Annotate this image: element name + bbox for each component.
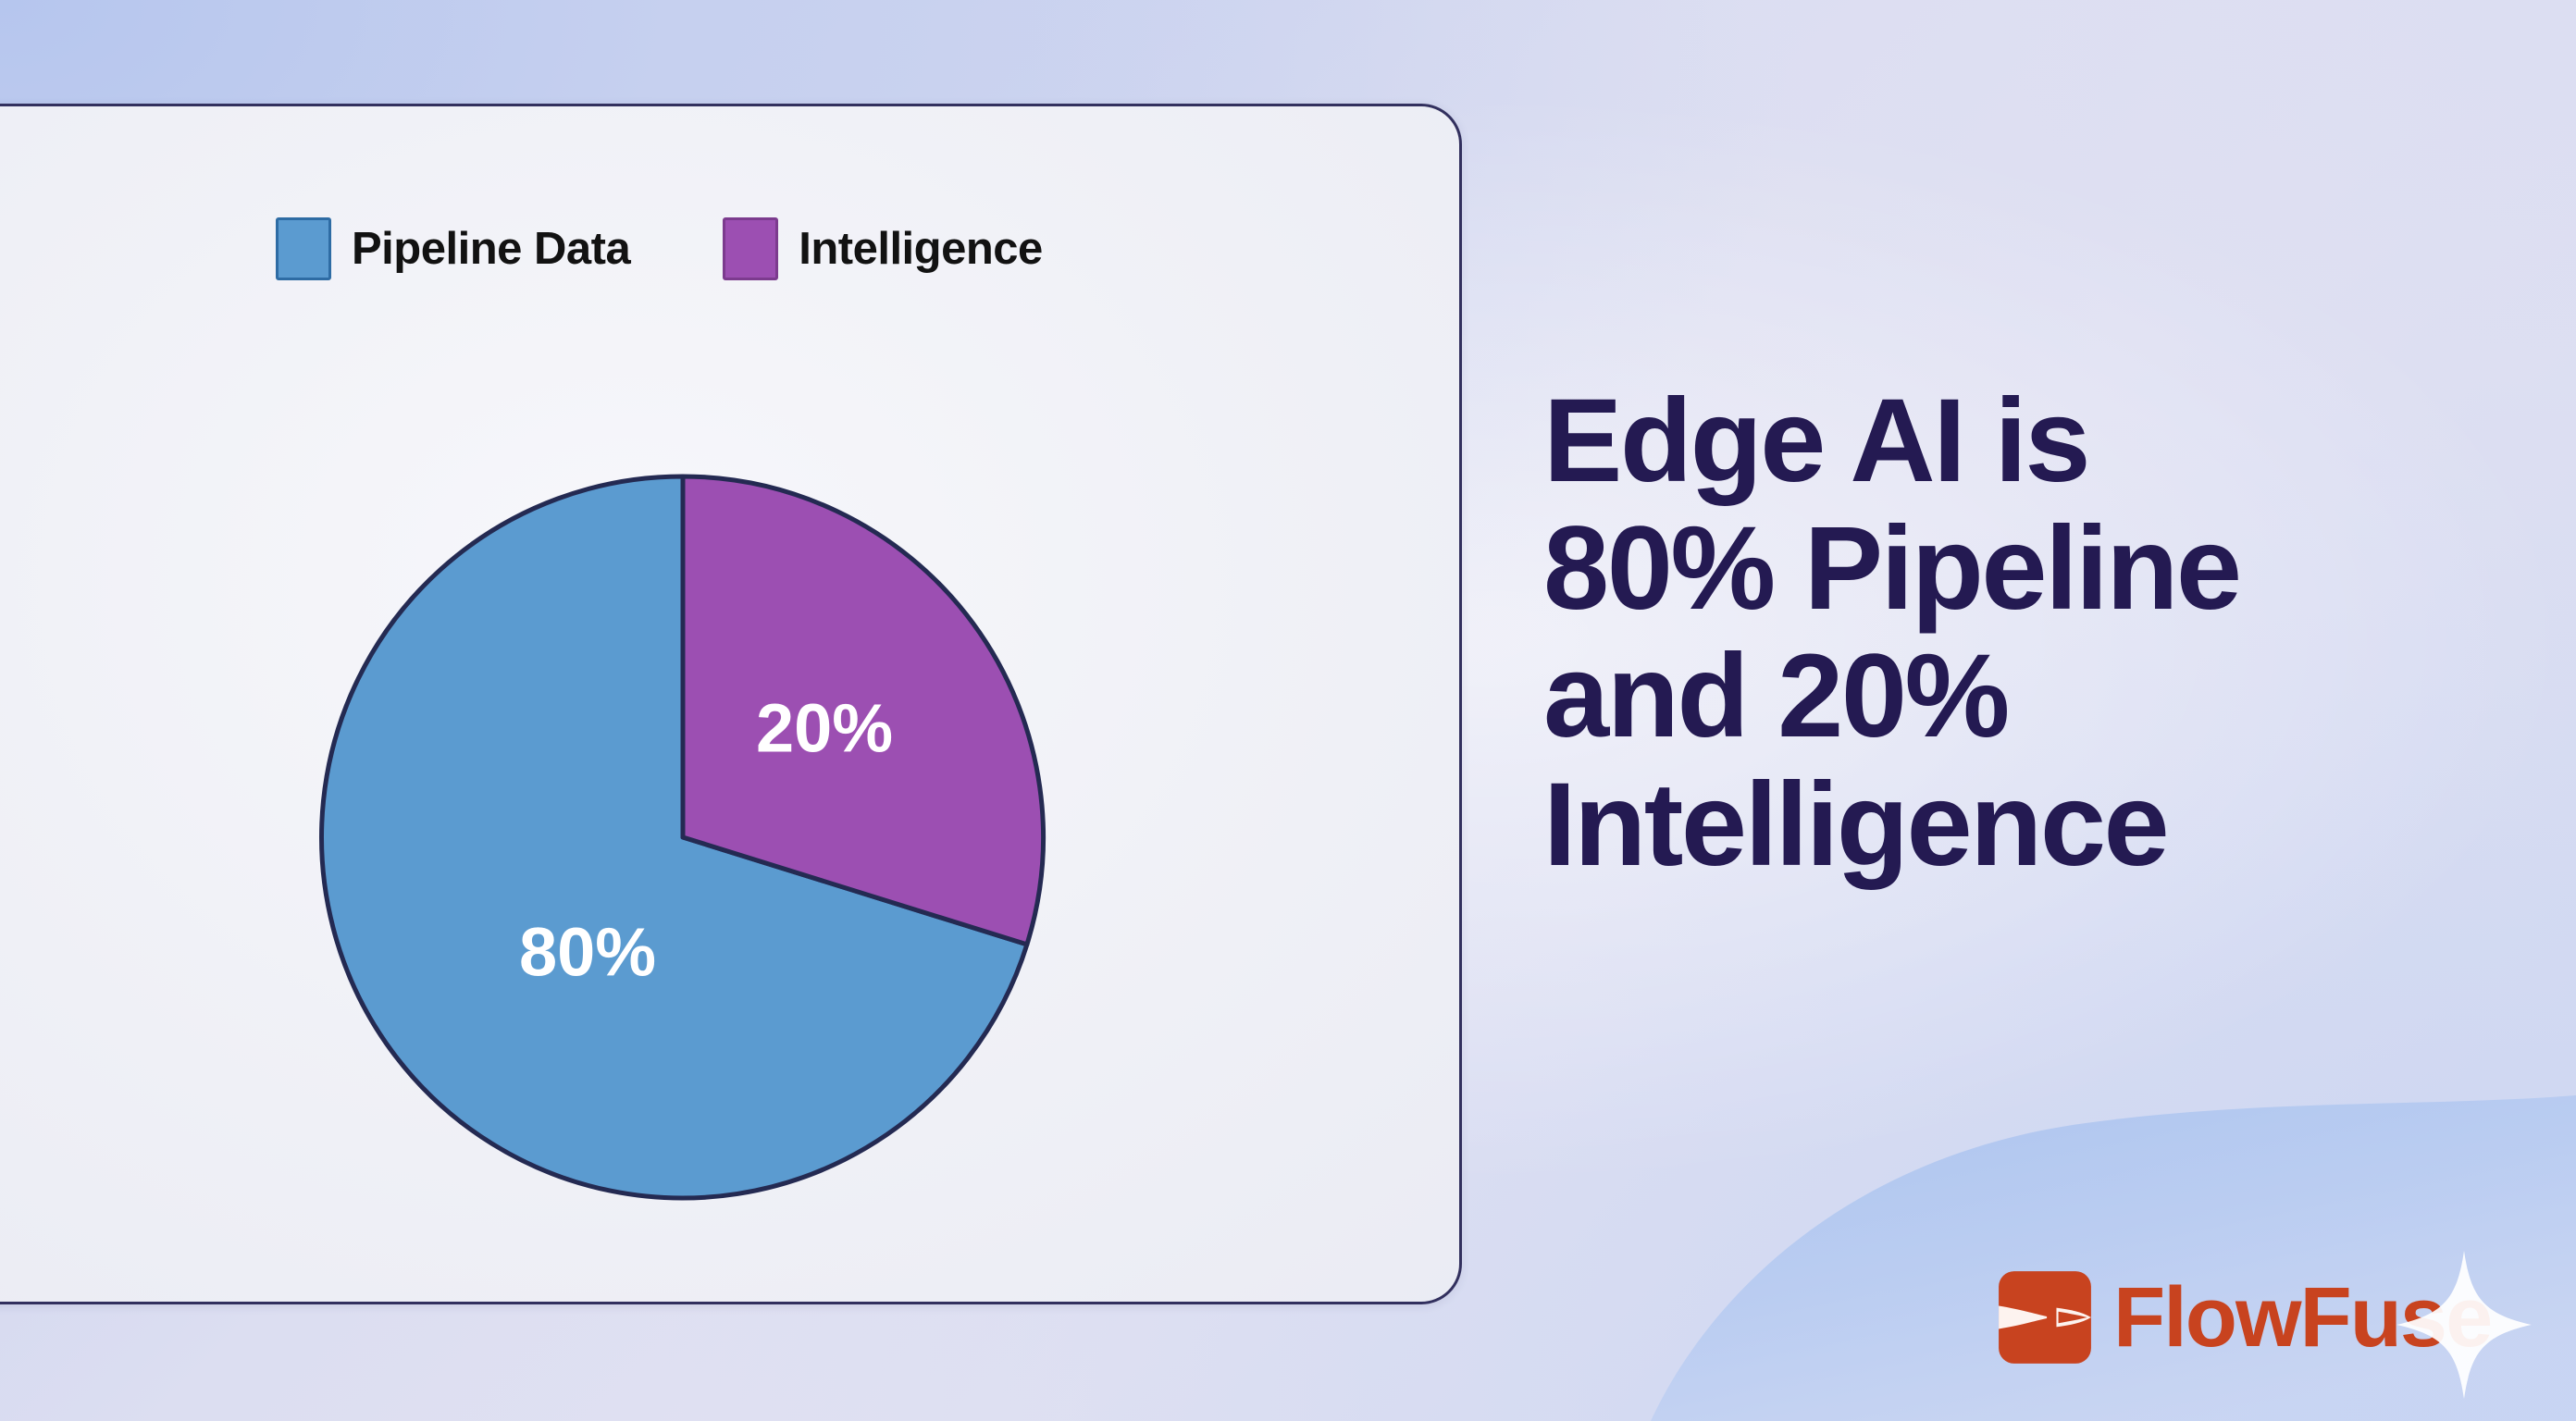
legend-swatch-intelligence <box>723 217 778 280</box>
headline-line-1: Edge AI is <box>1543 377 2478 505</box>
slide-canvas: Pipeline Data Intelligence 80% 20% Edge … <box>0 0 2576 1421</box>
pie-label-intelligence: 20% <box>756 690 893 767</box>
headline-line-2: 80% Pipeline <box>1543 505 2478 633</box>
legend-item-pipeline-data[interactable]: Pipeline Data <box>276 217 630 280</box>
flowfuse-logo[interactable]: FlowFuse <box>1997 1269 2491 1365</box>
legend-swatch-pipeline-data <box>276 217 331 280</box>
flowfuse-logo-mark-icon <box>1997 1269 2093 1365</box>
headline-line-3: and 20% <box>1543 633 2478 760</box>
legend-label-intelligence: Intelligence <box>799 223 1043 275</box>
flowfuse-wordmark: FlowFuse <box>2113 1275 2491 1360</box>
pie-chart: 80% 20% <box>317 472 1048 1203</box>
headline-line-4: Intelligence <box>1543 761 2478 889</box>
legend-item-intelligence[interactable]: Intelligence <box>723 217 1043 280</box>
chart-legend: Pipeline Data Intelligence <box>276 217 1043 280</box>
page-title: Edge AI is 80% Pipeline and 20% Intellig… <box>1543 377 2478 889</box>
chart-card: Pipeline Data Intelligence 80% 20% <box>0 104 1462 1304</box>
legend-label-pipeline-data: Pipeline Data <box>352 223 630 275</box>
pie-label-pipeline-data: 80% <box>519 914 656 991</box>
